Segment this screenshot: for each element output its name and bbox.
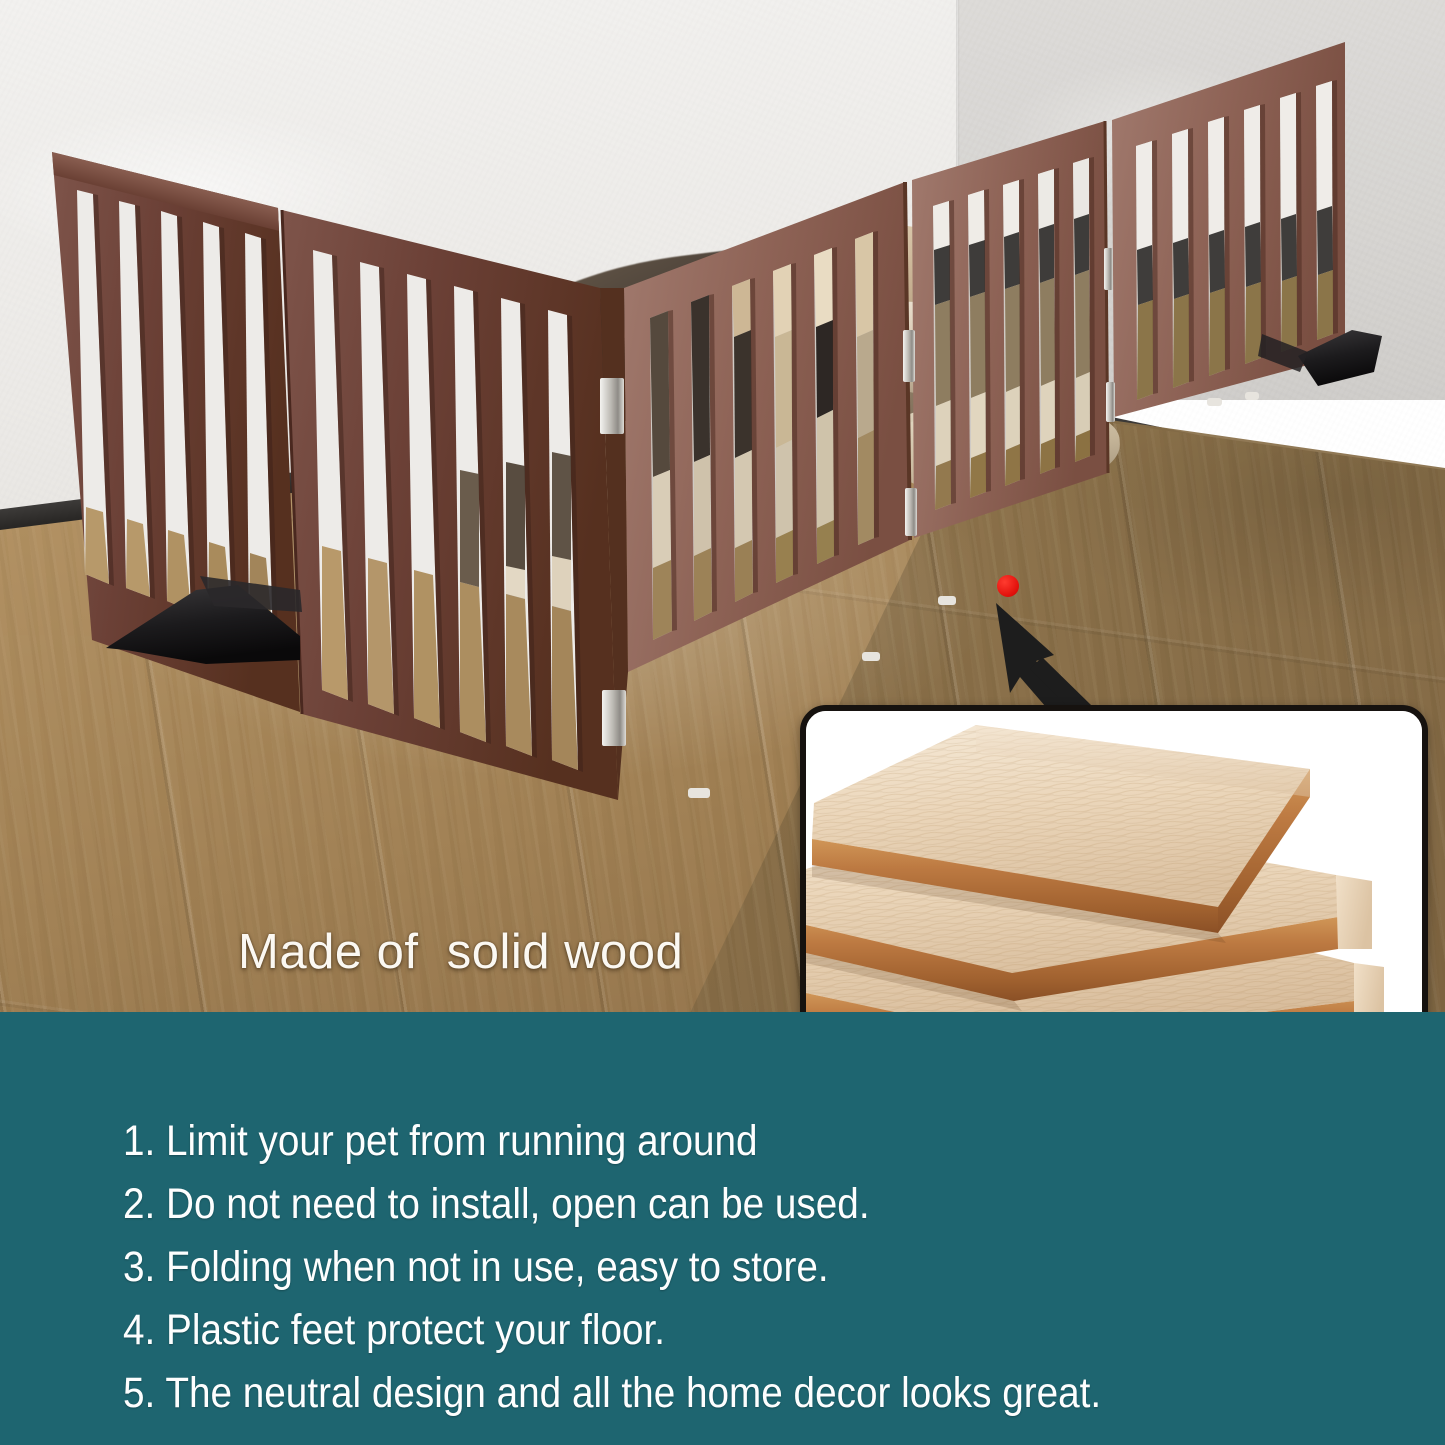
- photo-caption: Made of solid wood: [238, 924, 683, 980]
- hinge-icon: [602, 690, 626, 746]
- features-panel: 1. Limit your pet from running around 2.…: [0, 1012, 1445, 1445]
- hinge-icon: [1106, 382, 1115, 422]
- wood-boards-illustration: [806, 711, 1422, 1013]
- hinge-icon: [600, 378, 624, 434]
- wood-detail-inset: [800, 705, 1428, 1013]
- feature-item-2: 2. Do not need to install, open can be u…: [123, 1180, 870, 1229]
- feature-item-4: 4. Plastic feet protect your floor.: [123, 1306, 665, 1355]
- hinge-icon: [905, 488, 917, 536]
- gate-panel-4[interactable]: [912, 121, 1108, 538]
- product-photo: Made of solid wood: [0, 0, 1445, 1013]
- feature-item-1: 1. Limit your pet from running around: [123, 1117, 758, 1166]
- hinge-icon: [1104, 248, 1113, 290]
- hinge-icon: [903, 330, 915, 382]
- feature-item-3: 3. Folding when not in use, easy to stor…: [123, 1243, 829, 1292]
- feature-item-5: 5. The neutral design and all the home d…: [123, 1369, 1101, 1418]
- gate-panel-2[interactable]: [282, 210, 618, 800]
- gate-panel-3[interactable]: [624, 182, 910, 672]
- product-infographic: Made of solid wood 1. Limit your pet fro…: [0, 0, 1445, 1445]
